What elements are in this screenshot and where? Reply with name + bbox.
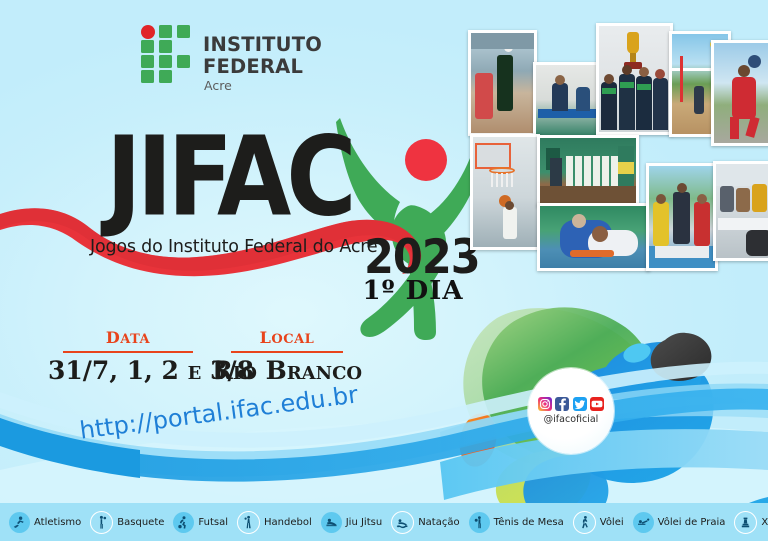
tabletennis-icon xyxy=(469,512,490,533)
sport-item-futsal[interactable]: Futsal xyxy=(173,512,228,533)
sport-item-volei-de-praia[interactable]: Vôlei de Praia xyxy=(633,512,726,533)
day-badge: 1º DIA xyxy=(0,276,768,306)
sport-label: Vôlei xyxy=(600,517,624,528)
sport-label: Basquete xyxy=(117,517,164,528)
photo-collage xyxy=(460,18,760,268)
photo-handball-shot xyxy=(711,40,768,146)
instagram-icon[interactable] xyxy=(538,397,552,411)
sport-label: Vôlei de Praia xyxy=(658,517,726,528)
date-value: 31/7, 1, 2 e 3/8 xyxy=(48,356,208,385)
photo-podium-medals xyxy=(646,163,718,271)
youtube-icon[interactable] xyxy=(590,397,604,411)
date-underline xyxy=(63,351,193,353)
social-bubble: @ifacoficial xyxy=(528,368,614,454)
volleyball-icon xyxy=(573,511,596,534)
day-badge-text: 1º DIA xyxy=(362,276,463,306)
if-logo-cell xyxy=(141,70,154,83)
sport-label: Handebol xyxy=(264,517,312,528)
if-logo-cell xyxy=(159,70,172,83)
date-label: Data xyxy=(48,322,208,349)
institution-campus: Acre xyxy=(203,78,381,94)
sport-item-handebol[interactable]: Handebol xyxy=(237,511,312,534)
institutional-logo: INSTITUTO FEDERAL Acre xyxy=(141,25,381,87)
photo-volleyball-spike xyxy=(468,30,537,136)
sport-label: Natação xyxy=(418,517,459,528)
social-icons xyxy=(538,397,605,411)
place-underline xyxy=(231,351,343,353)
poster-root: INSTITUTO FEDERAL Acre JIFAC Jogos do In… xyxy=(0,0,768,541)
event-wordmark: JIFAC xyxy=(106,122,352,231)
jiujitsu-icon xyxy=(321,512,342,533)
institutional-logo-text: INSTITUTO FEDERAL Acre xyxy=(203,34,381,94)
if-logo-red-dot xyxy=(141,25,155,39)
beachvolley-icon xyxy=(633,512,654,533)
if-logo-cell xyxy=(159,55,172,68)
sport-item-natacao[interactable]: Natação xyxy=(391,511,459,534)
basketball-icon xyxy=(90,511,113,534)
sport-label: Jiu Jitsu xyxy=(346,517,382,528)
sport-item-volei[interactable]: Vôlei xyxy=(573,511,624,534)
sport-item-atletismo[interactable]: Atletismo xyxy=(9,512,81,533)
institution-name: INSTITUTO FEDERAL xyxy=(203,34,381,78)
social-handle: @ifacoficial xyxy=(544,414,599,425)
sport-label: Xadrez xyxy=(761,517,768,528)
place-label: Local xyxy=(212,322,362,349)
event-logo: JIFAC Jogos do Instituto Federal do Acre… xyxy=(72,118,472,278)
place-value: Rio Branco xyxy=(212,356,362,385)
sport-item-jiujitsu[interactable]: Jiu Jitsu xyxy=(321,512,382,533)
place-block: Local Rio Branco xyxy=(212,322,362,385)
if-logo-cell xyxy=(159,25,172,38)
swimming-icon xyxy=(391,511,414,534)
sport-label: Atletismo xyxy=(34,517,81,528)
mascot-head xyxy=(405,139,447,181)
if-logo-mark xyxy=(141,25,193,83)
sport-item-xadrez[interactable]: Xadrez xyxy=(734,511,768,534)
athletics-icon xyxy=(9,512,30,533)
sports-bar: Atletismo Basquete Futsal xyxy=(0,503,768,541)
facebook-icon[interactable] xyxy=(555,397,569,411)
chess-icon xyxy=(734,511,757,534)
sport-label: Tênis de Mesa xyxy=(494,517,564,528)
date-block: Data 31/7, 1, 2 e 3/8 xyxy=(48,322,208,385)
if-logo-cell xyxy=(141,40,154,53)
futsal-icon xyxy=(173,512,194,533)
if-logo-cell xyxy=(159,40,172,53)
if-logo-cell xyxy=(177,25,190,38)
if-logo-cell xyxy=(177,55,190,68)
sport-item-basquete[interactable]: Basquete xyxy=(90,511,164,534)
photo-basketball-layup xyxy=(470,134,540,250)
sport-label: Futsal xyxy=(198,517,228,528)
photo-table-tennis xyxy=(533,62,601,140)
event-info: Data 31/7, 1, 2 e 3/8 Local Rio Branco xyxy=(24,322,364,394)
photo-team-ceremony xyxy=(537,135,639,207)
sport-item-tenis-de-mesa[interactable]: Tênis de Mesa xyxy=(469,512,564,533)
twitter-icon[interactable] xyxy=(573,397,587,411)
photo-jiujitsu-match xyxy=(537,203,650,271)
event-subtitle: Jogos do Instituto Federal do Acre xyxy=(90,237,377,257)
if-logo-cell xyxy=(141,55,154,68)
handball-icon xyxy=(237,511,260,534)
photo-chess-room xyxy=(713,161,768,261)
photo-trophy-team xyxy=(596,23,673,135)
